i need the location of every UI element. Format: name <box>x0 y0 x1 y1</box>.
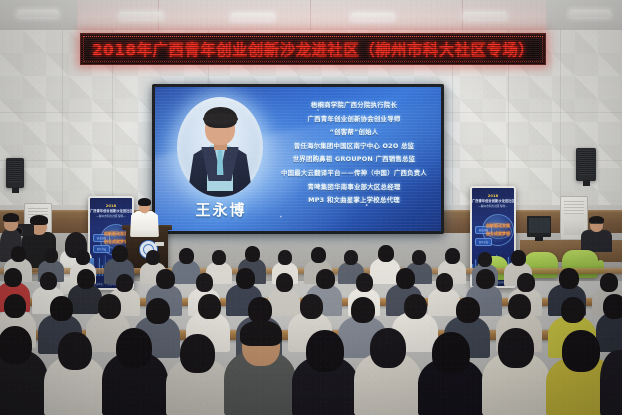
audience-head <box>198 294 221 319</box>
bio-line: 曾任海尔集团中国区南宁中心 O2O 总监 <box>270 140 438 154</box>
audience-head <box>50 296 73 321</box>
audience-head <box>600 273 618 292</box>
audience-head <box>351 297 375 323</box>
bio-line: 中国最大云翻译平台——传神（中国）广西负责人 <box>270 167 438 181</box>
led-banner-text: 2018年广西青年创业创新沙龙进社区（柳州市科大社区专场） <box>81 34 545 64</box>
audience-head <box>116 274 133 292</box>
rollup-subtitle: 广西青年创业创新沙龙进社区 <box>472 198 514 203</box>
audience-head <box>404 294 427 319</box>
audience-head <box>378 245 394 262</box>
rollup-chip: 青年论坛 <box>93 245 110 253</box>
wall-speaker-left <box>6 158 24 188</box>
audience-head <box>476 269 495 289</box>
audience-head <box>300 294 323 319</box>
audience-head <box>179 248 194 264</box>
led-banner-glow <box>78 14 546 30</box>
control-monitor <box>527 216 551 237</box>
audience-head-front <box>180 334 215 373</box>
monitor-stand <box>535 237 543 241</box>
audience-head <box>98 294 121 319</box>
speaker-bio-list: 梧桐商学院广西分院执行院长 广西青年创业创新协会创业导师 “创客帮”创始人 曾任… <box>270 99 438 208</box>
speaker-grill <box>578 150 594 175</box>
audience-head <box>146 250 160 265</box>
audience-head <box>603 294 622 319</box>
presenter-body <box>130 211 159 237</box>
bio-line: 世界团购鼻祖 GROUPON 广西销售总监 <box>270 153 438 167</box>
glasses-icon <box>591 223 602 227</box>
audience-head <box>245 246 260 262</box>
monitor-screen <box>529 218 550 234</box>
audience-hair-front <box>240 320 282 346</box>
standing-attendee-hair <box>3 213 19 222</box>
audience-head <box>517 273 535 292</box>
rollup-chip: 青年论坛 <box>475 238 492 246</box>
speaker-name: 王永博 <box>185 199 257 220</box>
audience-head-front <box>370 328 406 368</box>
audience-head <box>436 273 453 292</box>
speaker-bracket <box>12 187 19 193</box>
audience-head <box>4 268 22 287</box>
audience-member <box>268 288 300 316</box>
audience-head-front <box>562 330 600 372</box>
av-operator-body <box>581 230 612 252</box>
rollup-highlight: 创新驱动发展 <box>104 231 128 237</box>
audience-head-front <box>306 330 344 372</box>
wall-speaker-right <box>576 148 596 181</box>
lecture-hall-photo: 2018年广西青年创业创新沙龙进社区（柳州市科大社区专场） 王永博 梧桐商学院广… <box>0 0 622 415</box>
projection-screen: 王永博 梧桐商学院广西分院执行院长 广西青年创业创新协会创业导师 “创客帮”创始… <box>155 87 441 231</box>
bio-line: 广西青年创业创新协会创业导师 <box>270 113 438 127</box>
audience-head <box>4 294 26 318</box>
ceiling-light-panel <box>570 10 610 17</box>
bio-line: 梧桐商学院广西分院执行院长 <box>270 99 438 113</box>
bio-line: “创客帮”创始人 <box>270 126 438 140</box>
rollup-highlight: 创业成就梦想 <box>104 239 128 245</box>
audience-head-front <box>0 326 32 364</box>
audience-head <box>236 268 255 289</box>
audience-head <box>196 273 213 292</box>
speaker-grill <box>8 160 22 182</box>
audience-head <box>445 248 460 264</box>
podium-nameplate <box>155 242 164 246</box>
audience-member-front <box>600 350 622 415</box>
audience-head <box>11 246 26 262</box>
rollup-highlight: 创新驱动发展 <box>486 223 510 229</box>
speaker-portrait <box>177 97 263 197</box>
rollup-highlight: 创业成就梦想 <box>486 231 510 237</box>
audience-head <box>212 250 226 265</box>
audience-head <box>344 250 358 265</box>
audience-head-front <box>432 332 470 374</box>
rollup-subtitle: 广西青年创业创新沙龙进社区 <box>90 208 132 213</box>
bio-line: MP3 和文曲星掌上学校总代理 <box>270 194 438 208</box>
speaker-bracket <box>583 180 590 186</box>
audience-head <box>40 272 57 290</box>
audience-head <box>146 298 170 324</box>
rollup-chip-label: 青年论坛 <box>476 240 491 244</box>
led-banner: 2018年广西青年创业创新沙龙进社区（柳州市科大社区专场） <box>80 33 546 65</box>
audience-head <box>77 269 95 289</box>
bio-line: 青啤集团华南事业部大区总经理 <box>270 181 438 195</box>
audience-head <box>311 247 326 263</box>
audience-head <box>508 294 531 319</box>
rollup-tagline: —柳州市科大社区专场— <box>90 214 132 218</box>
audience-head <box>478 252 492 267</box>
rollup-tagline: —柳州市科大社区专场— <box>472 204 514 208</box>
audience-head <box>396 268 415 289</box>
audience-head <box>44 248 58 263</box>
ceiling-light-panel <box>18 10 58 17</box>
audience-head <box>559 268 579 289</box>
presenter-hair <box>138 198 151 206</box>
audience-head-front <box>58 332 92 370</box>
audience-head <box>112 245 128 262</box>
audience-head <box>356 273 373 292</box>
audience-head <box>561 297 585 323</box>
ac-vent <box>564 201 584 214</box>
audience-head <box>316 269 335 289</box>
audience-head-front <box>498 328 534 368</box>
audience-head <box>456 297 480 323</box>
audience-head <box>156 269 175 289</box>
rollup-chip-label: 青年论坛 <box>94 247 109 251</box>
audience-head <box>511 250 526 266</box>
audience-head <box>276 273 293 292</box>
audience-head <box>412 250 426 265</box>
audience-head <box>278 250 292 265</box>
portrait-hair-fringe <box>203 113 238 125</box>
audience-head <box>76 250 90 265</box>
audience-head-front <box>116 328 152 368</box>
